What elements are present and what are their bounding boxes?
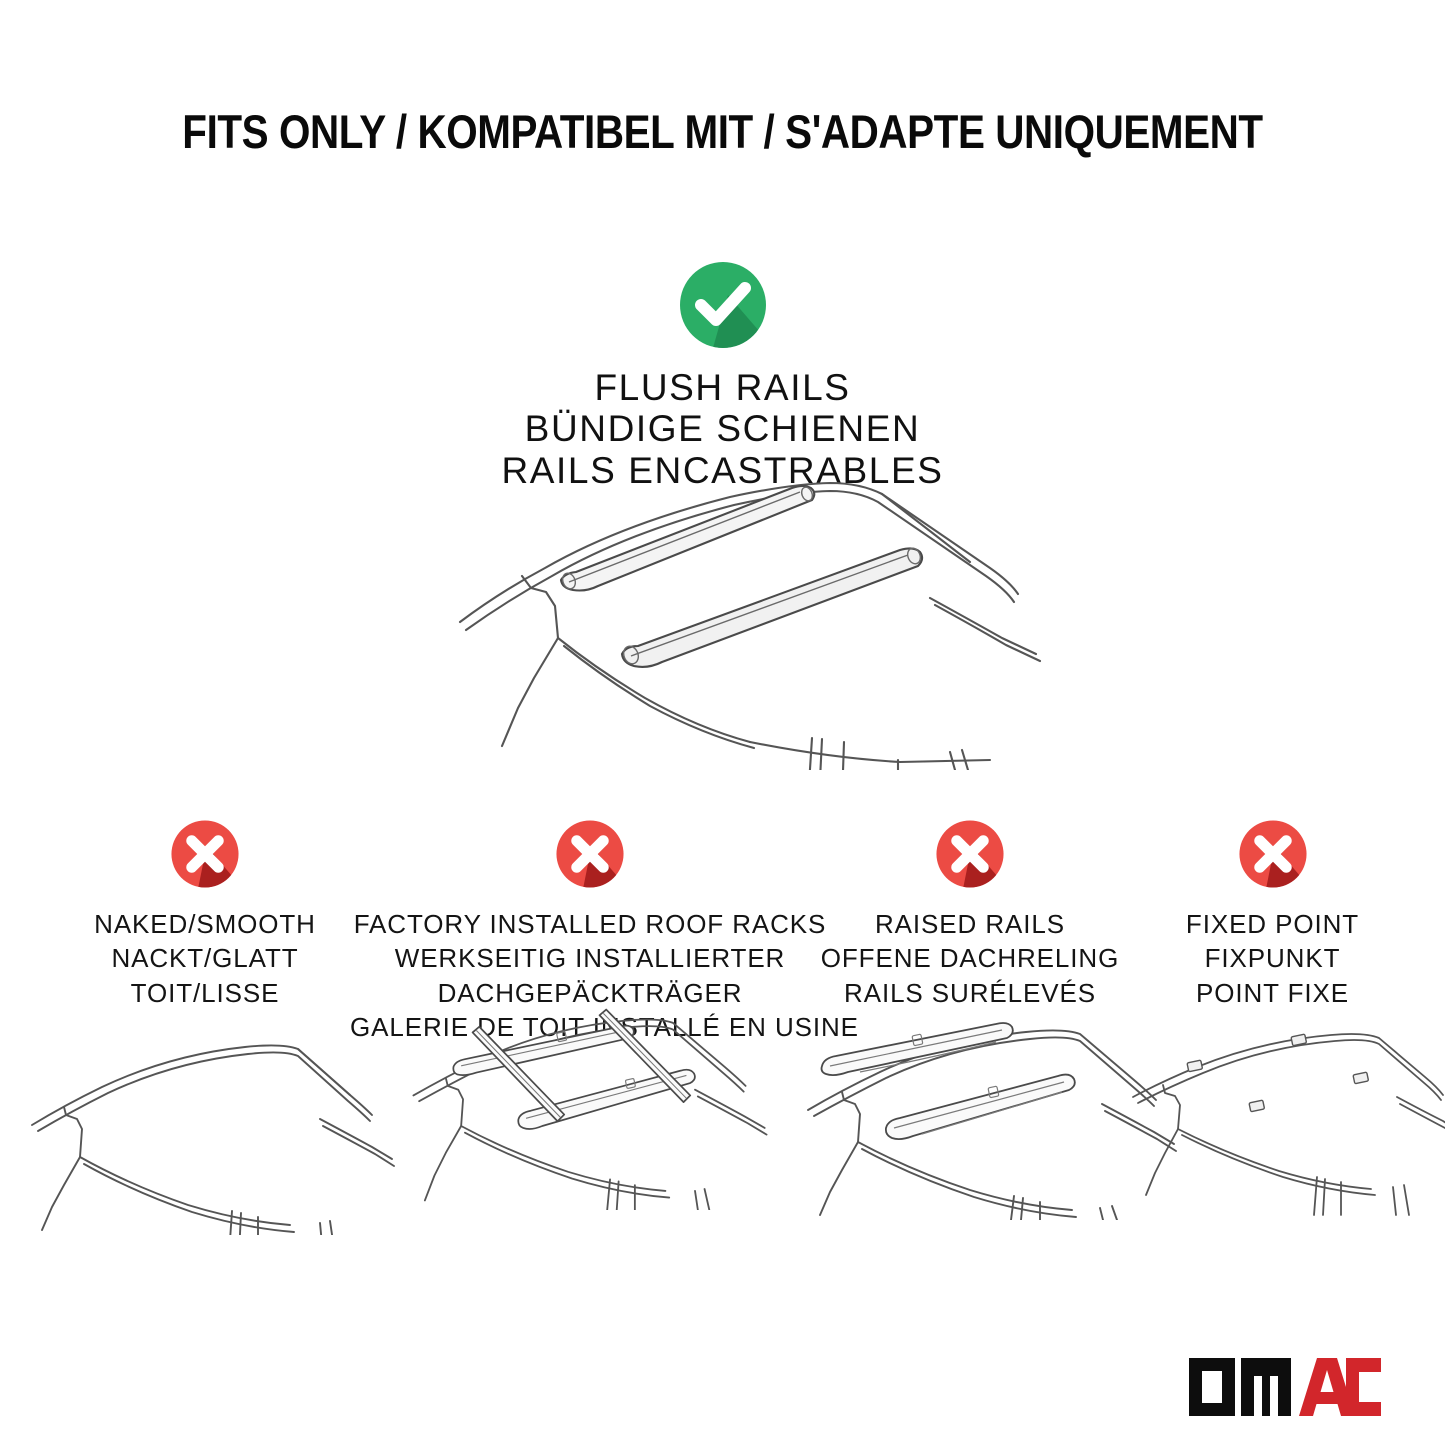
incompatible-label-fr: RAILS SURÉLEVÉS bbox=[820, 976, 1120, 1010]
compatible-label-de: BÜNDIGE SCHIENEN bbox=[0, 408, 1445, 449]
omac-logo bbox=[1185, 1354, 1385, 1420]
incompatible-label-en: FACTORY INSTALLED ROOF RACKS bbox=[350, 907, 830, 941]
incompatible-item-raised-rails: RAISED RAILS OFFENE DACHRELING RAILS SUR… bbox=[820, 815, 1120, 1010]
x-circle-icon bbox=[551, 815, 629, 893]
check-circle-icon bbox=[673, 255, 773, 355]
incompatible-label-fr: TOIT/LISSE bbox=[50, 976, 360, 1010]
page-title: FITS ONLY / KOMPATIBEL MIT / S'ADAPTE UN… bbox=[101, 104, 1344, 159]
incompatible-label-de: FIXPUNKT bbox=[1130, 941, 1415, 975]
compatibility-infographic: FITS ONLY / KOMPATIBEL MIT / S'ADAPTE UN… bbox=[0, 0, 1445, 1445]
x-circle-icon bbox=[1234, 815, 1312, 893]
x-circle-icon bbox=[166, 815, 244, 893]
incompatible-label-de: NACKT/GLATT bbox=[50, 941, 360, 975]
car-roof-flush-rails-illustration bbox=[430, 470, 1050, 770]
incompatible-item-fixed-point: FIXED POINT FIXPUNKT POINT FIXE bbox=[1130, 815, 1415, 1010]
incompatible-item-naked-smooth: NAKED/SMOOTH NACKT/GLATT TOIT/LISSE bbox=[50, 815, 360, 1010]
compatible-section: FLUSH RAILS BÜNDIGE SCHIENEN RAILS ENCAS… bbox=[0, 255, 1445, 491]
car-roof-fixed-point-illustration bbox=[1125, 1020, 1445, 1230]
car-roof-factory-roof-racks-illustration bbox=[395, 1000, 785, 1210]
compatible-label-en: FLUSH RAILS bbox=[0, 367, 1445, 408]
incompatible-label-en: NAKED/SMOOTH bbox=[50, 907, 360, 941]
incompatible-label-de-1: WERKSEITIG INSTALLIERTER bbox=[350, 941, 830, 975]
car-roof-naked-smooth-illustration bbox=[20, 1025, 400, 1235]
x-circle-icon bbox=[931, 815, 1009, 893]
incompatible-label-fr: POINT FIXE bbox=[1130, 976, 1415, 1010]
incompatible-label-en: RAISED RAILS bbox=[820, 907, 1120, 941]
incompatible-label-en: FIXED POINT bbox=[1130, 907, 1415, 941]
incompatible-label-de: OFFENE DACHRELING bbox=[820, 941, 1120, 975]
car-roof-raised-rails-illustration bbox=[800, 1010, 1180, 1220]
